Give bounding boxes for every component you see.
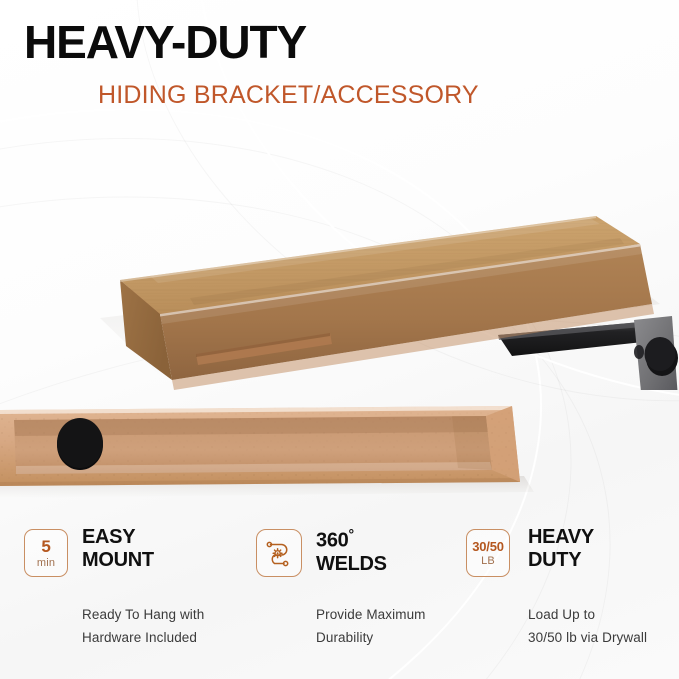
feature-title: EASY MOUNT (82, 526, 154, 572)
feature-desc-line1: Load Up to (528, 607, 595, 622)
feature-row: 5 min EASY MOUNT Ready To Hang with Hard… (0, 524, 679, 679)
degree-symbol: ° (348, 526, 353, 542)
feature-description: Provide Maximum Durability (316, 603, 426, 650)
badge-unit: LB (481, 556, 495, 567)
feature-description: Ready To Hang with Hardware Included (82, 603, 204, 650)
feature-title-line2: WELDS (316, 553, 387, 575)
feature-title-line1: 360 (316, 530, 348, 552)
page-subtitle: HIDING BRACKET/ACCESSORY (98, 83, 479, 108)
feature-desc-line2: Hardware Included (82, 630, 197, 645)
shelf-cutaway-svg (0, 388, 679, 508)
feature-easy-mount: 5 min EASY MOUNT Ready To Hang with Hard… (24, 524, 244, 588)
weld-path-gear-icon (264, 539, 294, 567)
hero-product-image (0, 108, 679, 390)
feature-title-line2: MOUNT (82, 549, 154, 571)
feature-desc-line2: 30/50 lb via Drywall (528, 630, 647, 645)
infographic-canvas: HEAVY-DUTY HIDING BRACKET/ACCESSORY (0, 0, 679, 679)
feature-head: 5 min EASY MOUNT (24, 524, 244, 588)
feature-head: 30/50 LB HEAVY DUTY (466, 524, 679, 588)
feature-desc-line1: Provide Maximum (316, 607, 426, 622)
feature-title: HEAVY DUTY (528, 526, 594, 572)
feature-description: Load Up to 30/50 lb via Drywall (528, 603, 647, 650)
badge-weld-icon (256, 529, 302, 577)
feature-title-line1: HEAVY (528, 526, 594, 548)
page-title: HEAVY-DUTY (24, 19, 306, 65)
feature-desc-line1: Ready To Hang with (82, 607, 204, 622)
badge-unit: min (37, 558, 55, 569)
feature-360-welds: 360° WELDS Provide Maximum Durability (256, 524, 456, 588)
badge-value: 5 (41, 538, 50, 555)
badge-30-50-lb: 30/50 LB (466, 529, 510, 577)
badge-5-min: 5 min (24, 529, 68, 577)
feature-title-line1: EASY (82, 526, 135, 548)
feature-head: 360° WELDS (256, 524, 456, 588)
badge-value: 30/50 (472, 540, 504, 553)
feature-desc-line2: Durability (316, 630, 373, 645)
feature-title: 360° WELDS (316, 526, 387, 576)
feature-title-line2: DUTY (528, 549, 581, 571)
shelf-hero-svg (0, 108, 679, 390)
feature-heavy-duty: 30/50 LB HEAVY DUTY Load Up to 30/50 lb … (466, 524, 679, 588)
cutaway-section-image (0, 388, 679, 508)
